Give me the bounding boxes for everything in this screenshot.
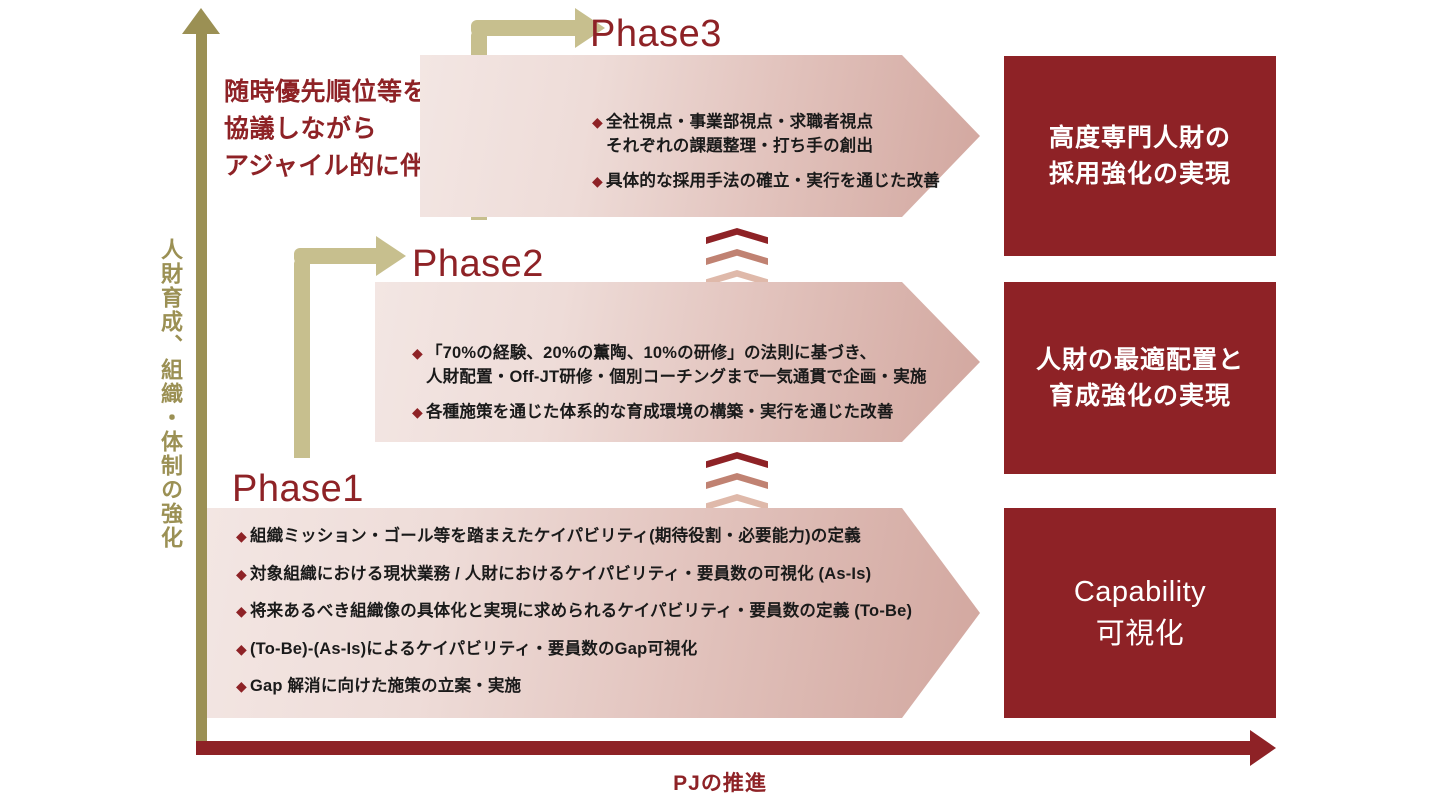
result-box-phase3: 高度専門人財の 採用強化の実現 xyxy=(1004,56,1276,256)
list-item: ◆ 「70%の経験、20%の薫陶、10%の研修」の法則に基づき、 人財配置・Of… xyxy=(412,342,972,389)
diamond-bullet-icon: ◆ xyxy=(236,600,247,622)
chevron-up-icon xyxy=(706,228,768,244)
list-item: ◆ 対象組織における現状業務 / 人財におけるケイパビリティ・要員数の可視化 (… xyxy=(236,563,966,586)
list-item: ◆ 組織ミッション・ゴール等を踏まえたケイパビリティ(期待役割・必要能力)の定義 xyxy=(236,525,966,548)
phase3-bullets: ◆ 全社視点・事業部視点・求職者視点 それぞれの課題整理・打ち手の創出 ◆ 具体… xyxy=(592,105,972,200)
chevron-up-icon xyxy=(706,249,768,265)
phase2-bullets: ◆ 「70%の経験、20%の薫陶、10%の研修」の法則に基づき、 人財配置・Of… xyxy=(412,336,972,431)
diamond-bullet-icon: ◆ xyxy=(236,675,247,697)
x-axis-arrowhead xyxy=(1250,730,1276,766)
y-axis-label: 人財育成、組織・体制の強化 xyxy=(148,238,182,550)
y-axis-line xyxy=(196,30,207,750)
phase1-bullets: ◆ 組織ミッション・ゴール等を踏まえたケイパビリティ(期待役割・必要能力)の定義… xyxy=(236,524,966,700)
x-axis-label: PJの推進 xyxy=(0,767,1440,797)
list-item: ◆ Gap 解消に向けた施策の立案・実施 xyxy=(236,675,966,698)
phase1-title: Phase1 xyxy=(232,468,364,511)
chevron-up-icon xyxy=(706,494,768,510)
phase2-title: Phase2 xyxy=(412,243,544,286)
list-item: ◆ 各種施策を通じた体系的な育成環境の構築・実行を通じた改善 xyxy=(412,401,972,424)
chevron-up-icon xyxy=(706,473,768,489)
list-item: ◆ (To-Be)-(As-Is)によるケイパビリティ・要員数のGap可視化 xyxy=(236,638,966,661)
agile-annotation: 随時優先順位等を 協議しながら アジャイル的に伴走 xyxy=(224,74,451,185)
list-item: ◆ 将来あるべき組織像の具体化と実現に求められるケイパビリティ・要員数の定義 (… xyxy=(236,600,966,623)
diamond-bullet-icon: ◆ xyxy=(592,111,603,133)
diagram-canvas: 人財育成、組織・体制の強化 PJの推進 随時優先順位等を 協議しながら アジャイ… xyxy=(0,0,1440,809)
chevron-stack-up-phase2-to-phase3 xyxy=(706,228,768,291)
phase3-title: Phase3 xyxy=(590,13,722,56)
chevron-stack-up-phase1-to-phase2 xyxy=(706,452,768,515)
result-box-phase2: 人財の最適配置と 育成強化の実現 xyxy=(1004,282,1276,474)
diamond-bullet-icon: ◆ xyxy=(236,525,247,547)
chevron-up-icon xyxy=(706,452,768,468)
diamond-bullet-icon: ◆ xyxy=(236,638,247,660)
result-box-phase1: Capability 可視化 xyxy=(1004,508,1276,718)
diamond-bullet-icon: ◆ xyxy=(412,342,423,364)
diamond-bullet-icon: ◆ xyxy=(592,170,603,192)
x-axis-line xyxy=(196,741,1258,755)
list-item: ◆ 具体的な採用手法の確立・実行を通じた改善 xyxy=(592,170,972,193)
diamond-bullet-icon: ◆ xyxy=(236,563,247,585)
diamond-bullet-icon: ◆ xyxy=(412,401,423,423)
list-item: ◆ 全社視点・事業部視点・求職者視点 それぞれの課題整理・打ち手の創出 xyxy=(592,111,972,158)
